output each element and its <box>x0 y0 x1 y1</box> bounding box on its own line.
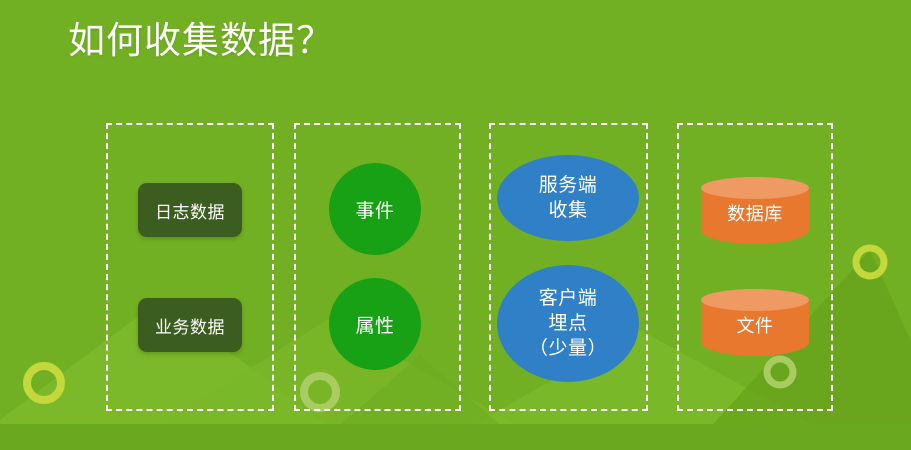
card-server-side-line2: 收集 <box>539 198 598 223</box>
card-database-label: 数据库 <box>701 200 809 226</box>
slide-canvas: 如何收集数据？ 日志数据 业务数据 事件 属性 服务端 收集 客户端 埋点 （少… <box>0 0 911 450</box>
bottom-band <box>0 424 911 450</box>
card-server-side-collection-text: 服务端 收集 <box>539 173 598 223</box>
card-database[interactable]: 数据库 <box>701 188 809 244</box>
card-property-label: 属性 <box>355 311 394 338</box>
card-business-data-label: 业务数据 <box>155 313 225 338</box>
card-server-side-line1: 服务端 <box>539 173 598 198</box>
card-business-data[interactable]: 业务数据 <box>138 298 242 352</box>
card-property[interactable]: 属性 <box>329 278 421 370</box>
card-event-label: 事件 <box>355 196 394 223</box>
database-cylinder-icon <box>701 177 809 199</box>
page-title: 如何收集数据？ <box>68 18 334 64</box>
card-server-side-collection[interactable]: 服务端 收集 <box>497 155 639 241</box>
group-box-storage <box>677 123 833 411</box>
file-cylinder-icon <box>701 289 809 311</box>
card-file-label: 文件 <box>701 312 809 338</box>
card-file[interactable]: 文件 <box>701 300 809 356</box>
group-box-data-sources <box>106 123 274 411</box>
card-log-data[interactable]: 日志数据 <box>138 183 242 237</box>
card-log-data-label: 日志数据 <box>155 198 225 223</box>
card-event[interactable]: 事件 <box>329 163 421 255</box>
card-client-side-line3: （少量） <box>529 336 607 361</box>
card-client-side-line1: 客户端 <box>529 286 607 311</box>
card-client-side-tracking-text: 客户端 埋点 （少量） <box>529 286 607 361</box>
card-client-side-line2: 埋点 <box>529 311 607 336</box>
card-client-side-tracking[interactable]: 客户端 埋点 （少量） <box>497 265 639 382</box>
